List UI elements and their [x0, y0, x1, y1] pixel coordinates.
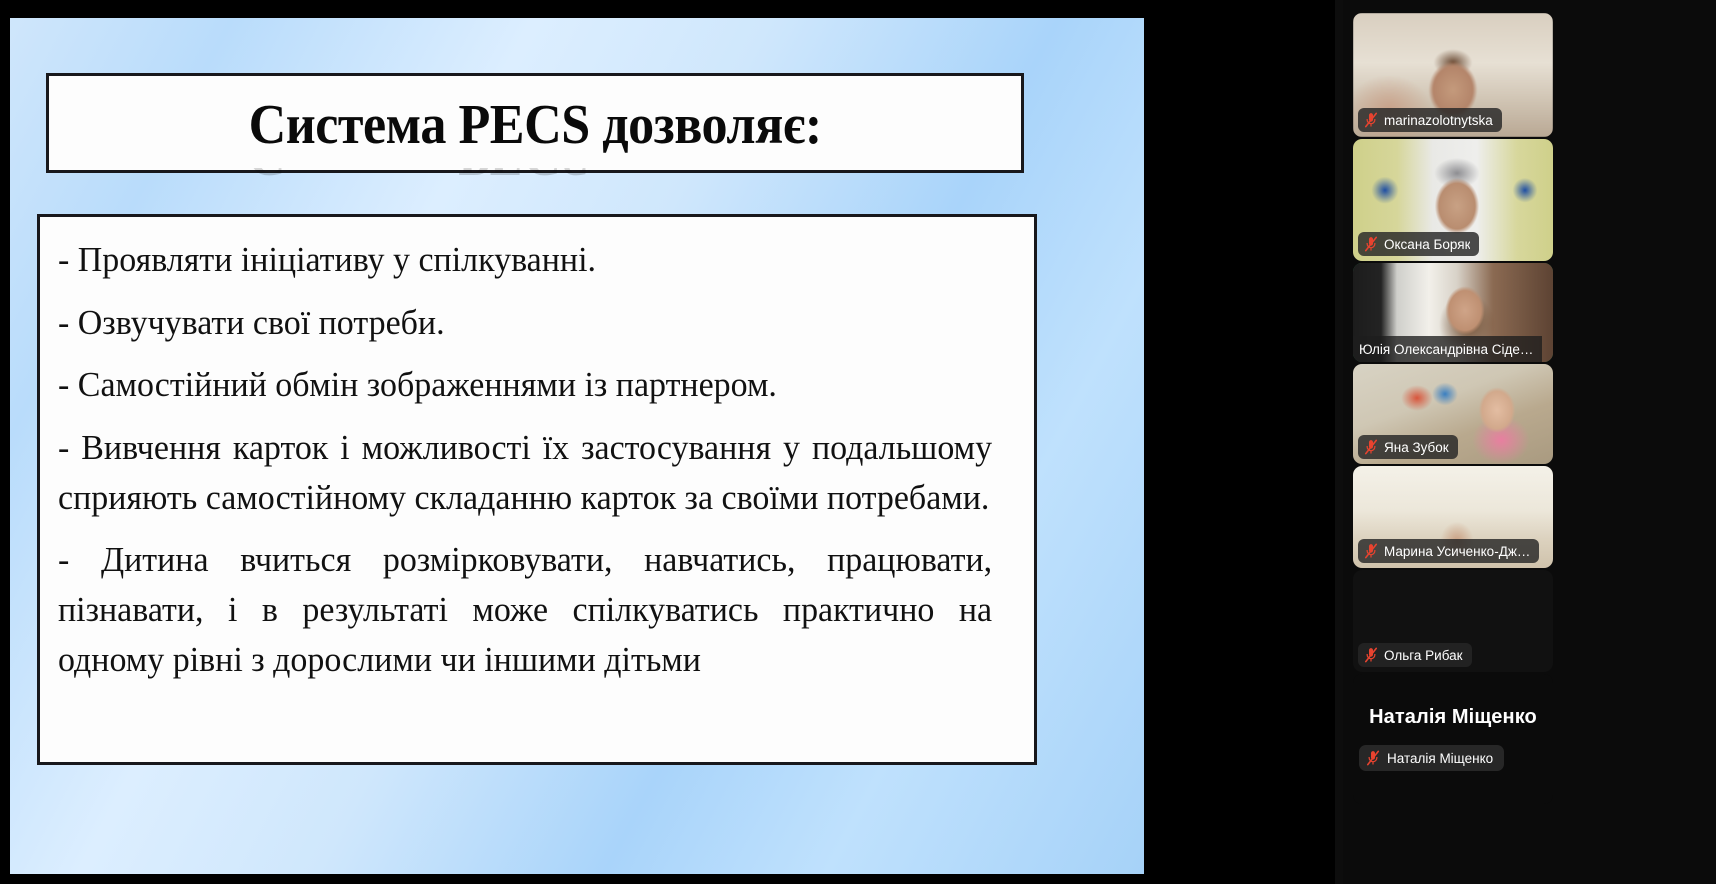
slide-bullet-4: - Вивчення карток і можливості їх застос…: [58, 423, 992, 522]
self-view-name-bar: Наталія Міщенко: [1359, 745, 1504, 771]
participant-tile[interactable]: Марина Усиченко-Дж…: [1353, 466, 1553, 568]
participant-name-bar: Яна Зубок: [1358, 435, 1458, 459]
pane-divider[interactable]: [1335, 0, 1343, 884]
slide-bullet-2: - Озвучувати свої потреби.: [58, 298, 992, 348]
participant-tile-active-speaker[interactable]: Юлія Олександрівна Сіде…: [1353, 263, 1553, 362]
participant-name: Юлія Олександрівна Сіде…: [1359, 342, 1533, 357]
participant-tile[interactable]: Яна Зубок: [1353, 364, 1553, 464]
self-view-name-label: Наталія Міщенко: [1387, 751, 1493, 766]
presentation-slide: Система PECS дозволяє: Система PECS дозв…: [10, 18, 1144, 874]
self-view-display-name: Наталія Міщенко: [1353, 706, 1553, 729]
participant-name-bar: Юлія Олександрівна Сіде…: [1353, 336, 1542, 362]
mic-muted-icon: [1364, 543, 1378, 559]
slide-bullet-3: - Самостійний обмін зображеннями із парт…: [58, 360, 992, 410]
mic-muted-icon: [1366, 750, 1380, 766]
participant-name: Ольга Рибак: [1384, 648, 1463, 663]
participants-filmstrip[interactable]: marinazolotnytska Оксана Боряк Юлія Олек…: [1343, 0, 1716, 884]
mic-muted-icon: [1364, 236, 1378, 252]
participant-name: Яна Зубок: [1384, 440, 1449, 455]
participant-name-bar: Оксана Боряк: [1358, 232, 1479, 256]
self-view-tile[interactable]: [1353, 674, 1553, 804]
mic-muted-icon: [1364, 112, 1378, 128]
participant-name: Оксана Боряк: [1384, 237, 1470, 252]
mic-muted-icon: [1364, 439, 1378, 455]
participant-tile[interactable]: Ольга Рибак: [1353, 570, 1553, 672]
slide-bullet-1: - Проявляти ініціативу у спілкуванні.: [58, 235, 992, 285]
slide-title-box: Система PECS дозволяє:: [46, 73, 1024, 173]
zoom-meeting-window: Система PECS дозволяє: Система PECS дозв…: [0, 0, 1716, 884]
slide-title: Система PECS дозволяє:: [248, 93, 821, 157]
participant-name-bar: marinazolotnytska: [1358, 108, 1502, 132]
shared-screen-stage[interactable]: Система PECS дозволяє: Система PECS дозв…: [0, 0, 1335, 884]
participant-name-bar: Марина Усиченко-Дж…: [1358, 539, 1539, 563]
slide-title-reflection: Система PECS дозволяє:: [46, 168, 1024, 214]
slide-body-box: - Проявляти ініціативу у спілкуванні. - …: [37, 214, 1037, 765]
mic-muted-icon: [1364, 647, 1378, 663]
participant-tile[interactable]: Оксана Боряк: [1353, 139, 1553, 261]
participant-name: Марина Усиченко-Дж…: [1384, 544, 1530, 559]
slide-bullet-5: - Дитина вчиться розмірковувати, навчати…: [58, 535, 992, 684]
participant-name-bar: Ольга Рибак: [1358, 643, 1472, 667]
participant-name: marinazolotnytska: [1384, 113, 1493, 128]
participant-tile[interactable]: marinazolotnytska: [1353, 13, 1553, 137]
